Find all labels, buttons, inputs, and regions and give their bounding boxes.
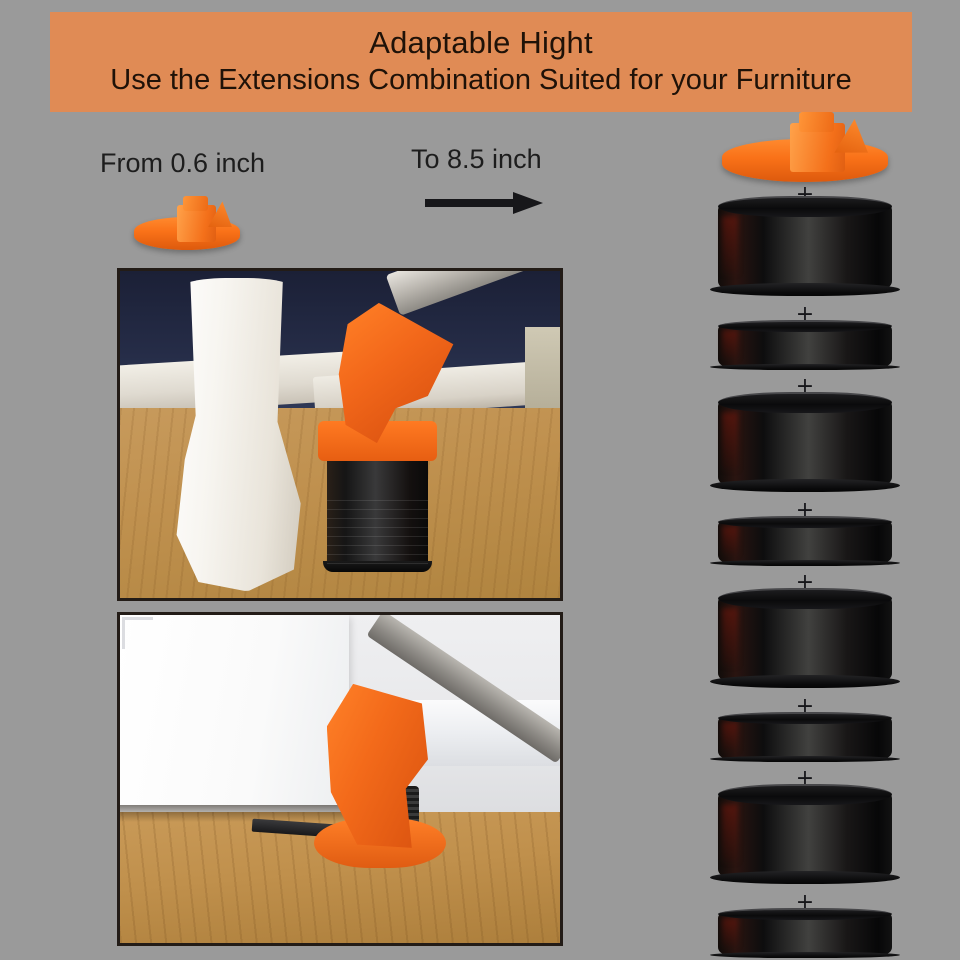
extension-body: [718, 205, 892, 288]
page-subtitle: Use the Extensions Combination Suited fo…: [110, 64, 851, 97]
label-from-height: From 0.6 inch: [100, 148, 265, 179]
furniture-leg-lifted-photo: [117, 268, 563, 601]
extension-rim: [718, 196, 892, 217]
photo2-floor-shadow: [120, 805, 366, 821]
extension-base-lip: [710, 952, 900, 959]
extension-base-lip: [710, 479, 900, 492]
extension-rim: [718, 320, 892, 332]
photo2-white-appliance: [120, 615, 349, 822]
product-infographic: Adaptable Hight Use the Extensions Combi…: [0, 0, 960, 960]
label-to-height: To 8.5 inch: [411, 144, 542, 175]
stack-tall-extension: [700, 392, 910, 492]
extension-highlight: [722, 722, 738, 751]
extension-base-lip: [710, 675, 900, 688]
extension-rim: [718, 712, 892, 724]
photo2-door-molding: [122, 617, 152, 649]
stack-orange-base: [700, 112, 910, 182]
arrow-right-icon: [425, 192, 543, 214]
extension-base-lip: [710, 871, 900, 884]
extension-highlight: [722, 412, 738, 470]
orange-tab: [799, 112, 835, 132]
extension-rim: [718, 908, 892, 920]
photo1-extension-ribs: [327, 500, 428, 572]
orange-tab: [183, 196, 209, 211]
extension-highlight: [722, 330, 738, 359]
exploded-parts-stack: + + + +: [700, 112, 910, 960]
extension-highlight: [722, 526, 738, 555]
extension-body: [718, 401, 892, 484]
extension-rim: [718, 516, 892, 528]
extension-highlight: [722, 804, 738, 862]
header-banner: Adaptable Hight Use the Extensions Combi…: [50, 12, 912, 112]
appliance-lifted-photo: [117, 612, 563, 946]
page-title: Adaptable Hight: [369, 27, 593, 60]
orange-base-part-small: [112, 196, 262, 250]
photo1-shelf: [525, 327, 560, 419]
extension-base-lip: [710, 756, 900, 763]
stack-short-extension: [700, 712, 910, 762]
extension-base-lip: [710, 283, 900, 296]
stack-short-extension: [700, 516, 910, 566]
stack-tall-extension: [700, 784, 910, 884]
stack-tall-extension: [700, 196, 910, 296]
extension-body: [718, 597, 892, 680]
extension-base-lip: [710, 560, 900, 567]
extension-highlight: [722, 918, 738, 947]
extension-body: [718, 793, 892, 876]
extension-highlight: [722, 216, 738, 274]
stack-short-extension: [700, 320, 910, 370]
stack-short-extension: [700, 908, 910, 958]
extension-base-lip: [710, 364, 900, 371]
extension-rim: [718, 392, 892, 413]
extension-rim: [718, 588, 892, 609]
extension-rim: [718, 784, 892, 805]
extension-highlight: [722, 608, 738, 666]
stack-tall-extension: [700, 588, 910, 688]
